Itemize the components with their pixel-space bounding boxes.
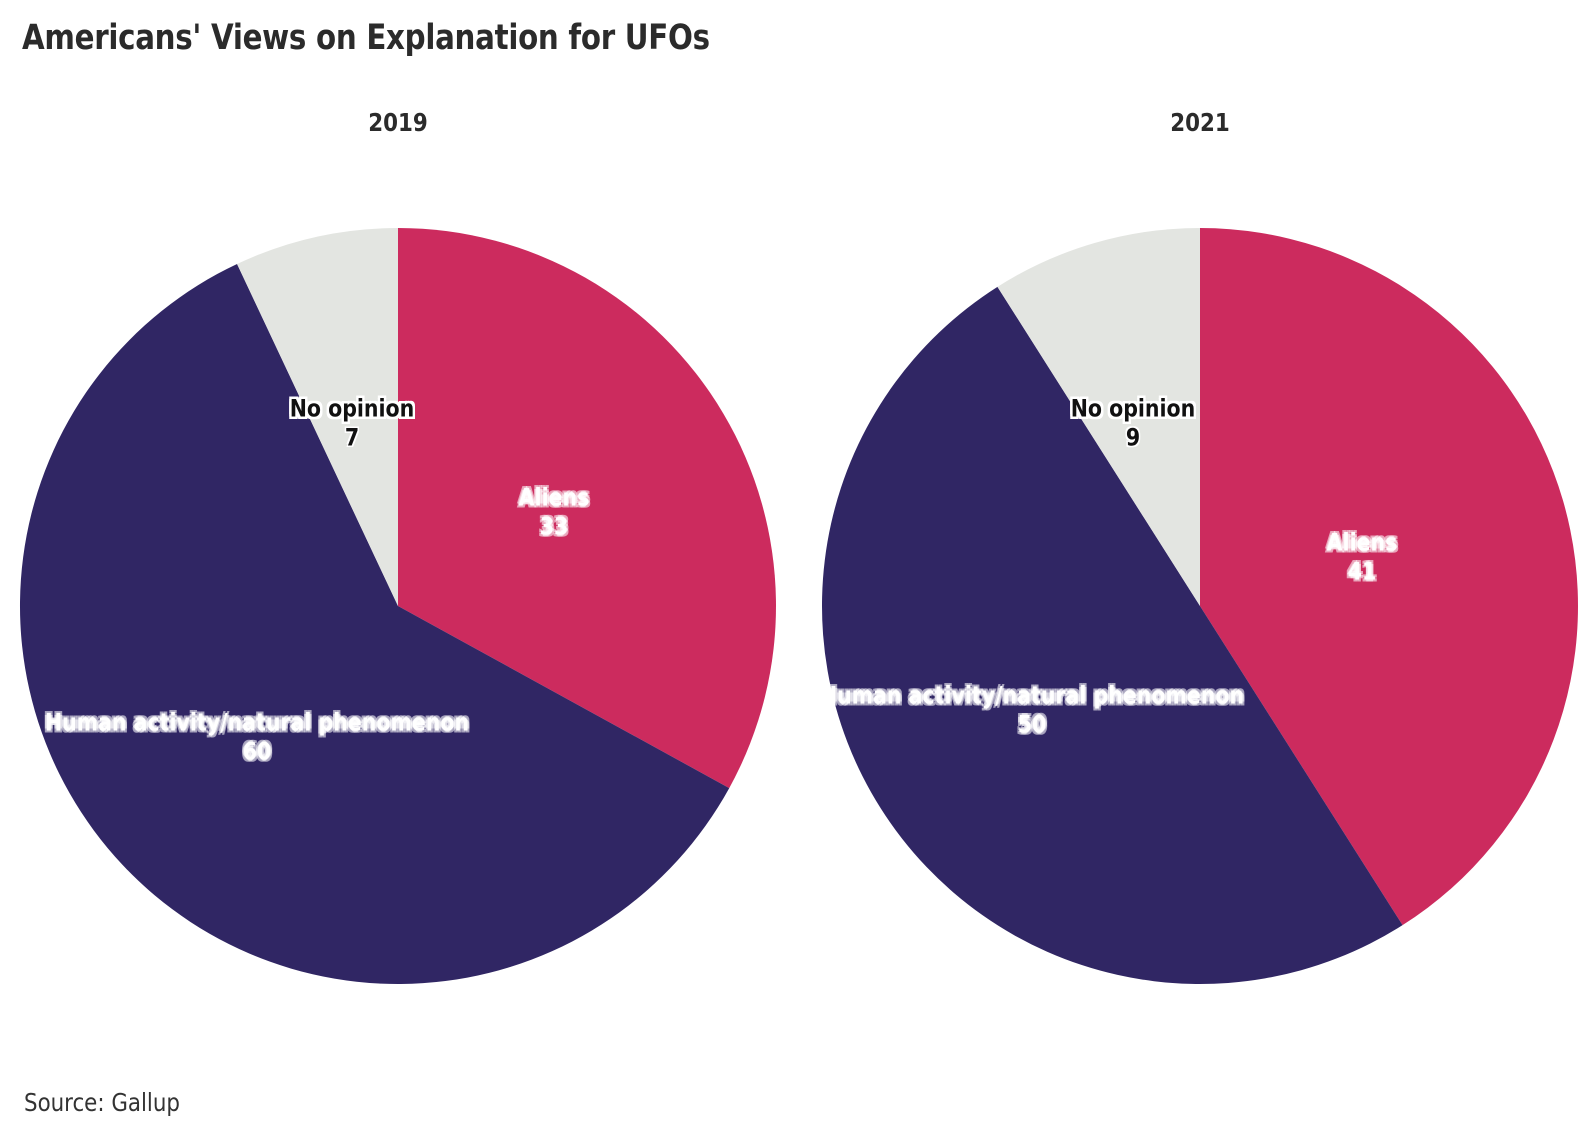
chart-figure: Americans' Views on Explanation for UFOs… xyxy=(0,0,1588,1148)
pie-chart-canvas xyxy=(0,0,1588,1148)
source-note: Source: Gallup xyxy=(24,1088,180,1117)
